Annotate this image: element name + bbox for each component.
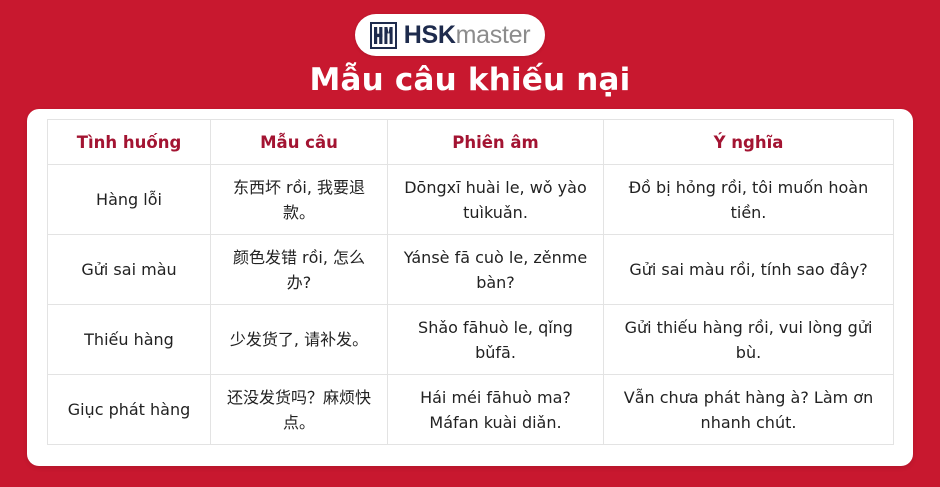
cell-situation: Thiếu hàng (48, 305, 211, 375)
cell-situation: Gửi sai màu (48, 235, 211, 305)
cell-sentence: 东西坏 rồi, 我要退款。 (211, 165, 388, 235)
brand-logo[interactable]: HSKmaster (355, 14, 545, 56)
brand-name-master: master (456, 21, 531, 49)
brand-name-hsk: HSK (404, 21, 456, 49)
hm-monogram-icon (370, 22, 397, 49)
page-title: Mẫu câu khiếu nại (0, 61, 940, 99)
column-header-sentence: Mẫu câu (211, 120, 388, 165)
cell-pinyin: Dōngxī huài le, wǒ yào tuìkuǎn. (388, 165, 604, 235)
cell-meaning: Vẫn chưa phát hàng à? Làm ơn nhanh chút. (604, 375, 894, 445)
page-root: HSKmaster Mẫu câu khiếu nại Tình huống M… (0, 0, 940, 487)
complaint-sentence-table: Tình huống Mẫu câu Phiên âm Ý nghĩa Hàng… (47, 119, 894, 445)
cell-meaning: Gửi sai màu rồi, tính sao đây? (604, 235, 894, 305)
cell-situation: Hàng lỗi (48, 165, 211, 235)
cell-meaning: Đồ bị hỏng rồi, tôi muốn hoàn tiền. (604, 165, 894, 235)
content-card: Tình huống Mẫu câu Phiên âm Ý nghĩa Hàng… (27, 109, 913, 466)
table-row: Giục phát hàng 还没发货吗？麻烦快点。 Hái méi fāhuò… (48, 375, 894, 445)
cell-pinyin: Shǎo fāhuò le, qǐng bǔfā. (388, 305, 604, 375)
cell-pinyin: Hái méi fāhuò ma? Máfan kuài diǎn. (388, 375, 604, 445)
cell-meaning: Gửi thiếu hàng rồi, vui lòng gửi bù. (604, 305, 894, 375)
cell-sentence: 颜色发错 rồi, 怎么办? (211, 235, 388, 305)
table-row: Gửi sai màu 颜色发错 rồi, 怎么办? Yánsè fā cuò … (48, 235, 894, 305)
column-header-pinyin: Phiên âm (388, 120, 604, 165)
cell-sentence: 还没发货吗？麻烦快点。 (211, 375, 388, 445)
cell-pinyin: Yánsè fā cuò le, zěnme bàn? (388, 235, 604, 305)
column-header-situation: Tình huống (48, 120, 211, 165)
cell-situation: Giục phát hàng (48, 375, 211, 445)
column-header-meaning: Ý nghĩa (604, 120, 894, 165)
table-header-row: Tình huống Mẫu câu Phiên âm Ý nghĩa (48, 120, 894, 165)
table-row: Thiếu hàng 少发货了, 请补发。 Shǎo fāhuò le, qǐn… (48, 305, 894, 375)
brand-wordmark: HSKmaster (404, 23, 531, 48)
table-row: Hàng lỗi 东西坏 rồi, 我要退款。 Dōngxī huài le, … (48, 165, 894, 235)
cell-sentence: 少发货了, 请补发。 (211, 305, 388, 375)
